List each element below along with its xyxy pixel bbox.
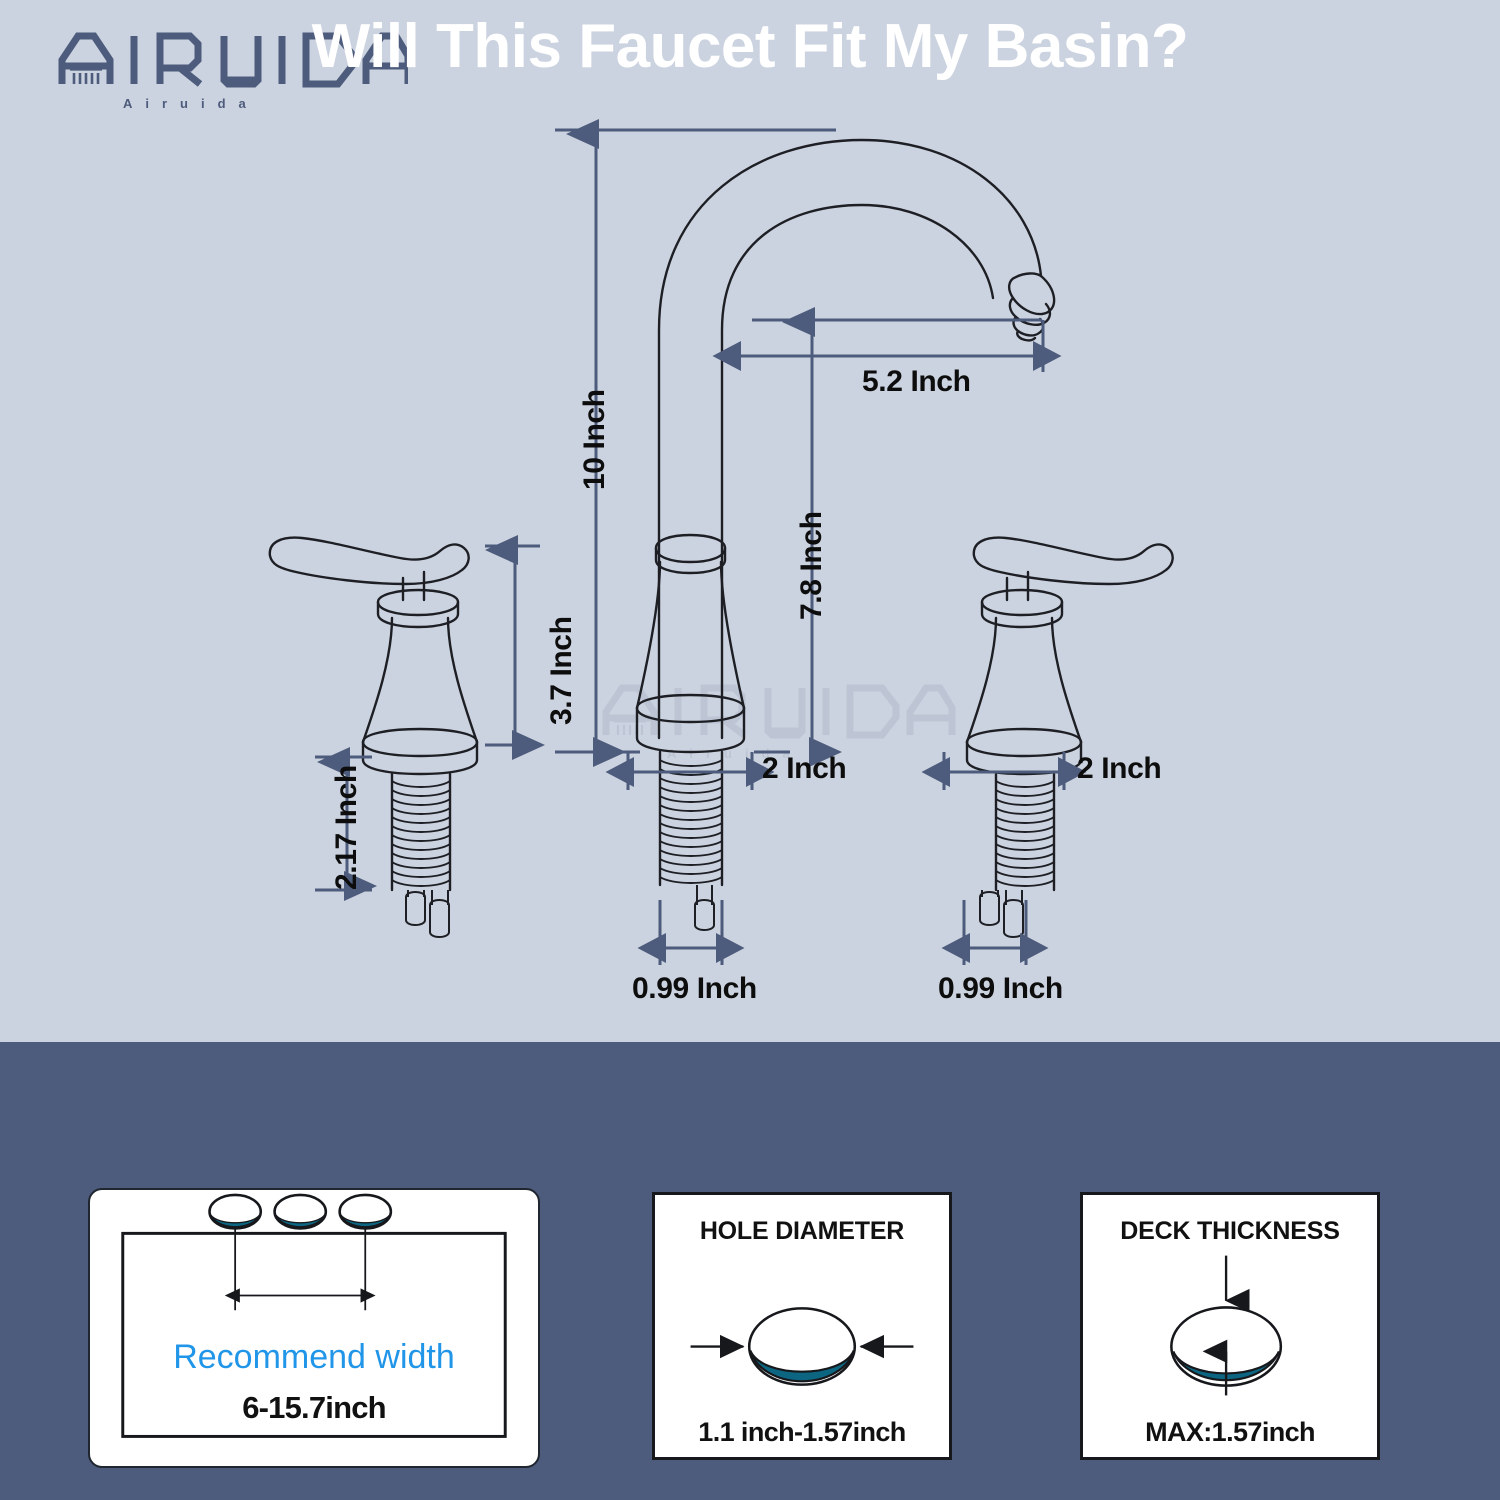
deck-thickness-card: DECK THICKNESS MAX:1.57inch [1080, 1192, 1380, 1460]
spec-diagram-panel: Airuida [0, 0, 1500, 1042]
left-handle-threads [392, 781, 450, 886]
dim-label-217inch: 2.17 Inch [330, 765, 364, 890]
dim-label-52inch: 5.2 Inch [862, 365, 971, 399]
deck-thickness-value: MAX:1.57inch [1083, 1417, 1377, 1448]
right-handle-supply-tubes [980, 890, 1023, 937]
deck-thickness-title: DECK THICKNESS [1083, 1217, 1377, 1246]
faucet-technical-drawing: Airuida [0, 0, 1500, 1042]
right-handle-threads [996, 781, 1054, 886]
dim-label-099inch-right: 0.99 Inch [938, 972, 1063, 1006]
dim-label-10inch: 10 Inch [578, 389, 612, 490]
recommend-width-label: Recommend width [90, 1338, 538, 1377]
fit-panel-title: Will This Faucet Fit My Basin? [0, 16, 1500, 78]
basin-hole-right [340, 1195, 391, 1229]
spout-threads [660, 760, 722, 883]
basin-hole-left [210, 1195, 261, 1230]
hole-diameter-card: HOLE DIAMETER 1.1 inch-1.57inch [652, 1192, 952, 1460]
dim-label-37inch: 3.7 Inch [545, 616, 579, 725]
dim-label-2inch-right: 2 Inch [1077, 752, 1161, 786]
hole-diameter-title: HOLE DIAMETER [655, 1217, 949, 1246]
dim-label-78inch: 7.8 Inch [795, 511, 829, 620]
dimension-lines [315, 130, 1064, 965]
left-handle-supply-tubes [406, 890, 449, 937]
recommend-width-value: 6-15.7inch [90, 1390, 538, 1426]
product-spec-infographic: Airuida [0, 0, 1500, 1500]
hole-diameter-value: 1.1 inch-1.57inch [655, 1417, 949, 1448]
dim-label-2inch-center: 2 Inch [762, 752, 846, 786]
basin-hole-center [275, 1195, 326, 1229]
spout-supply-tube [695, 885, 714, 930]
recommend-width-card: Recommend width 6-15.7inch [88, 1188, 540, 1468]
dim-label-099inch-center: 0.99 Inch [632, 972, 757, 1006]
